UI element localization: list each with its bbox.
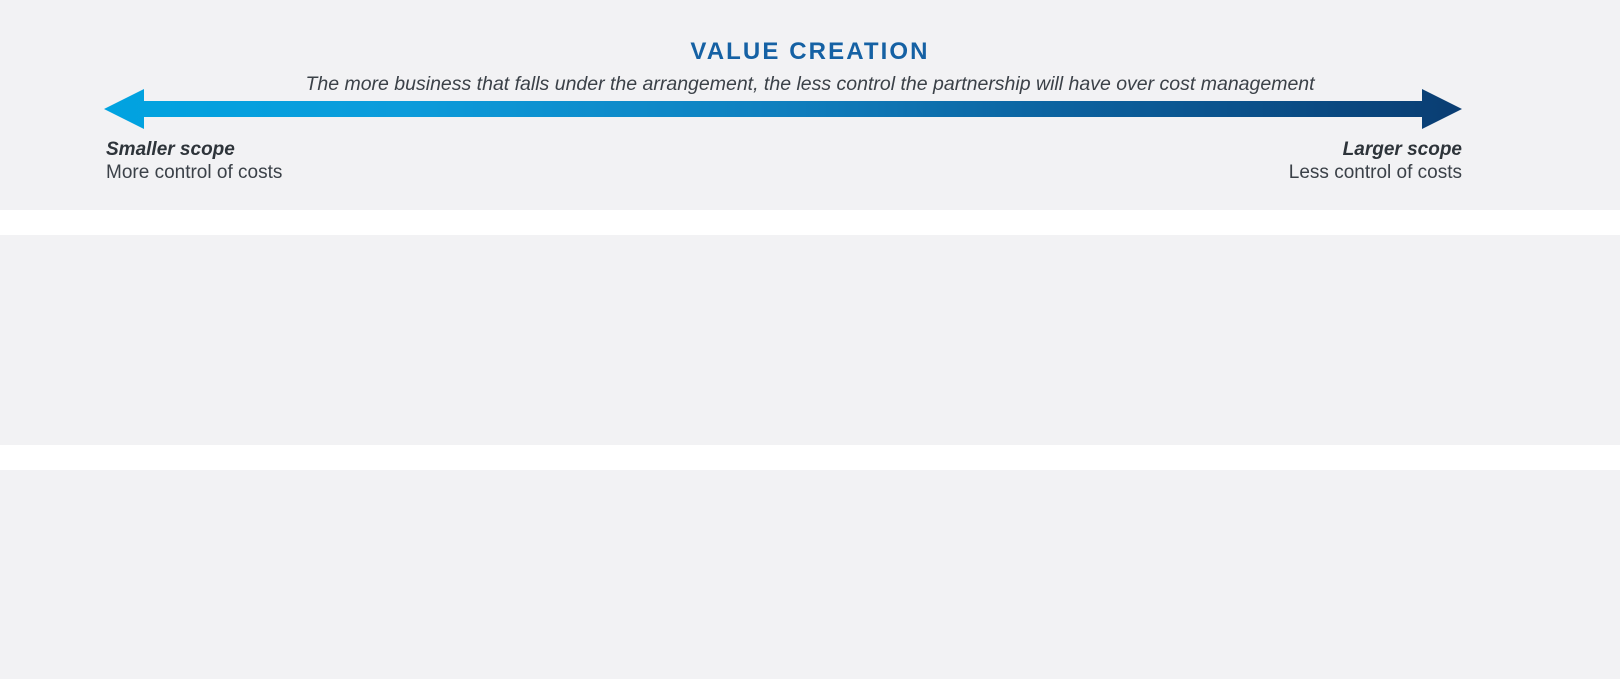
arrow-left-label-headline: Smaller scope bbox=[106, 138, 746, 161]
panel-value-creation: VALUE CREATION The more business that fa… bbox=[0, 0, 1620, 210]
panel-risk-v-reward: RISK V. REWARD The more risk the partner… bbox=[0, 470, 1620, 679]
double-headed-arrow-icon bbox=[104, 86, 1462, 132]
arrow-right-label-headline: Larger scope bbox=[820, 138, 1462, 161]
panel-performance-model-measurement: PERFORMANCE MODEL & MEASUREMENT The more… bbox=[0, 235, 1620, 445]
arrow-right-label-detail: Less control of costs bbox=[820, 161, 1462, 185]
infographic-board: VALUE CREATION The more business that fa… bbox=[0, 0, 1620, 679]
arrow-right-label: Larger scope Less control of costs bbox=[820, 138, 1462, 185]
arrow-left-label-detail: More control of costs bbox=[106, 161, 746, 185]
panel-title: VALUE CREATION bbox=[0, 38, 1620, 66]
arrow-left-label: Smaller scope More control of costs bbox=[106, 138, 746, 185]
